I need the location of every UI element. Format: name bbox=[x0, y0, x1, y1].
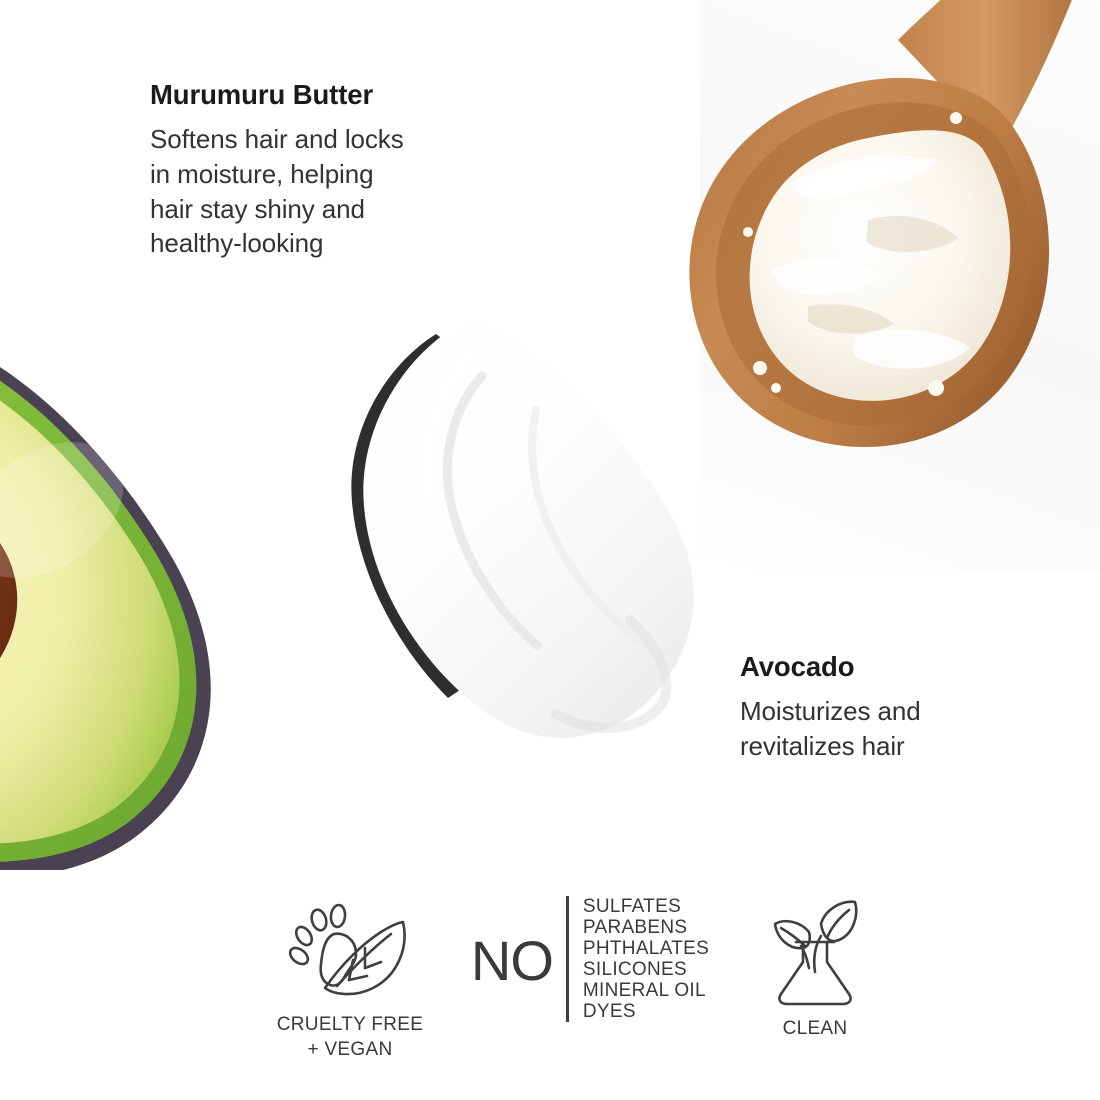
ingredient-title: Avocado bbox=[740, 650, 1070, 683]
ingredient-block-avocado: Avocado Moisturizes and revitalizes hair bbox=[740, 650, 1070, 764]
description-line: revitalizes hair bbox=[740, 729, 1070, 764]
badge-label-line: CRUELTY FREE bbox=[277, 1012, 423, 1037]
description-line: hair stay shiny and bbox=[150, 192, 510, 227]
badge-label: CRUELTY FREE + VEGAN bbox=[277, 1012, 423, 1062]
description-line: healthy-looking bbox=[150, 226, 510, 261]
free-from-list: SULFATES PARABENS PHTHALATES SILICONES M… bbox=[583, 896, 709, 1022]
badge-label-line: + VEGAN bbox=[277, 1037, 423, 1062]
badge-label: CLEAN bbox=[783, 1016, 848, 1041]
avocado-half-photo bbox=[0, 300, 330, 870]
free-from-item: SILICONES bbox=[583, 960, 709, 980]
ingredient-title: Murumuru Butter bbox=[150, 78, 510, 111]
description-line: Moisturizes and bbox=[740, 694, 1070, 729]
badge-clean: CLEAN bbox=[730, 890, 900, 1041]
free-from-item: PARABENS bbox=[583, 918, 709, 938]
flask-plant-icon bbox=[763, 898, 867, 1006]
no-prefix: NO bbox=[471, 933, 566, 989]
ingredient-description: Moisturizes and revitalizes hair bbox=[740, 694, 1070, 764]
paw-leaf-icon bbox=[287, 902, 413, 1002]
badge-cruelty-free: CRUELTY FREE + VEGAN bbox=[250, 890, 450, 1062]
description-line: Softens hair and locks bbox=[150, 122, 510, 157]
vertical-divider bbox=[566, 896, 569, 1022]
ingredient-description: Softens hair and locks in moisture, help… bbox=[150, 122, 510, 261]
ingredient-block-murumuru: Murumuru Butter Softens hair and locks i… bbox=[150, 78, 510, 261]
cream-swatch-photo bbox=[330, 290, 750, 740]
free-from-item: DYES bbox=[583, 1002, 709, 1022]
badge-row: CRUELTY FREE + VEGAN NO SULFATES PARABEN… bbox=[250, 890, 900, 1075]
product-ingredient-graphic: Murumuru Butter Softens hair and locks i… bbox=[0, 0, 1100, 1100]
free-from-item: PHTHALATES bbox=[583, 939, 709, 959]
free-from-item: MINERAL OIL bbox=[583, 981, 709, 1001]
description-line: in moisture, helping bbox=[150, 157, 510, 192]
free-from-item: SULFATES bbox=[583, 897, 709, 917]
badge-label-line: CLEAN bbox=[783, 1016, 848, 1041]
badge-free-from: NO SULFATES PARABENS PHTHALATES SILICONE… bbox=[471, 890, 709, 1022]
